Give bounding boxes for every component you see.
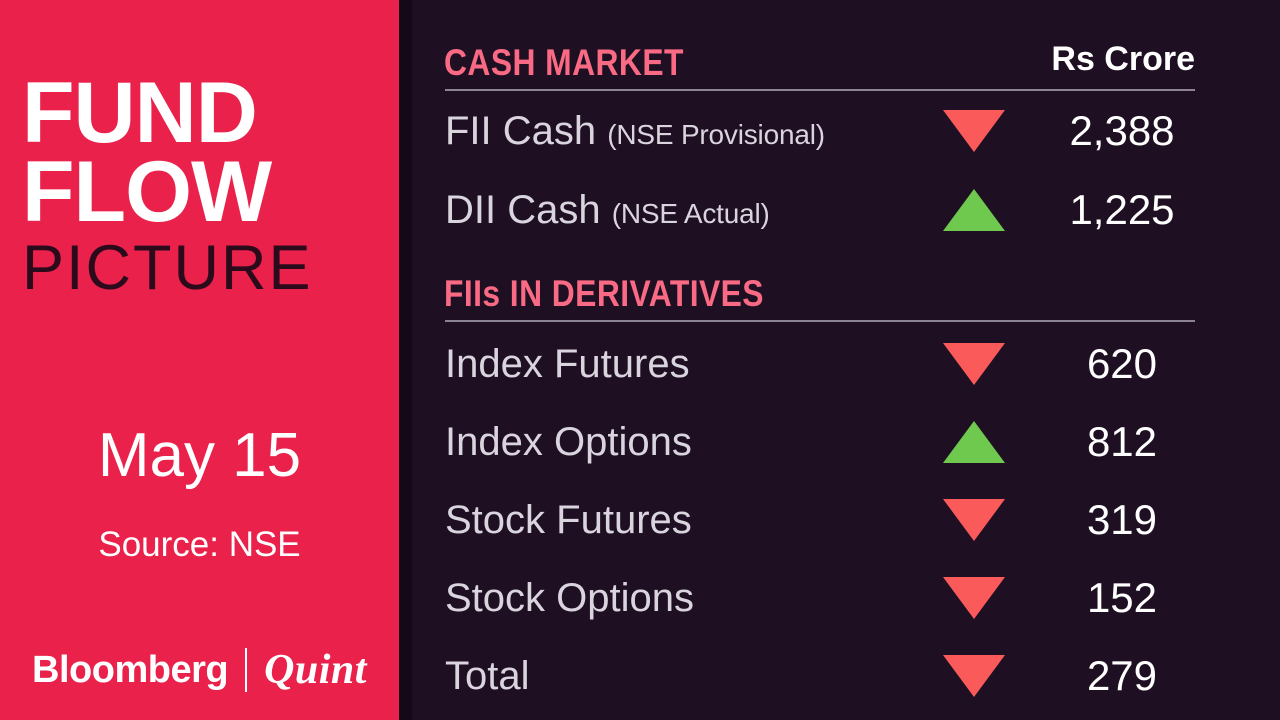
direction-indicator — [943, 421, 1005, 463]
date-label: May 15 — [0, 420, 399, 491]
row-label-stock-futures: Stock Futures — [445, 498, 692, 543]
row-label-main: FII Cash — [445, 109, 596, 153]
table-row: FII Cash (NSE Provisional) 2,388 — [412, 103, 1280, 159]
triangle-down-icon — [943, 577, 1005, 619]
brand-panel: FUND FLOW PICTURE May 15 Source: NSE Blo… — [0, 0, 399, 720]
row-label-index-options: Index Options — [445, 420, 692, 465]
triangle-down-icon — [943, 110, 1005, 152]
row-label-fii-cash: FII Cash (NSE Provisional) — [445, 109, 825, 154]
direction-indicator — [943, 499, 1005, 541]
row-value: 319 — [1012, 496, 1232, 544]
brand-line-fund: FUND — [22, 74, 382, 153]
table-row: Total 279 — [412, 648, 1280, 704]
triangle-up-icon — [943, 189, 1005, 231]
row-label-stock-options: Stock Options — [445, 576, 694, 621]
row-label-dii-cash: DII Cash (NSE Actual) — [445, 188, 770, 233]
row-value: 620 — [1012, 340, 1232, 388]
row-value: 279 — [1012, 652, 1232, 700]
divider-derivatives — [445, 320, 1195, 322]
section-heading-fiis-in-derivatives: FIIs IN DERIVATIVES — [444, 273, 764, 315]
publisher-logo: Bloomberg Quint — [0, 645, 399, 695]
direction-indicator — [943, 655, 1005, 697]
row-label-total: Total — [445, 654, 530, 699]
row-value: 812 — [1012, 418, 1232, 466]
row-label-sub: (NSE Actual) — [612, 198, 770, 229]
panel-gutter — [399, 0, 412, 720]
infographic-canvas: FUND FLOW PICTURE May 15 Source: NSE Blo… — [0, 0, 1280, 720]
triangle-up-icon — [943, 421, 1005, 463]
brand-line-picture: PICTURE — [22, 236, 382, 300]
row-label-index-futures: Index Futures — [445, 342, 690, 387]
triangle-down-icon — [943, 499, 1005, 541]
brand-title: FUND FLOW PICTURE — [22, 74, 382, 300]
logo-divider — [245, 648, 247, 692]
table-row: DII Cash (NSE Actual) 1,225 — [412, 182, 1280, 238]
unit-label: Rs Crore — [1051, 40, 1195, 79]
table-row: Index Options 812 — [412, 414, 1280, 470]
row-value: 152 — [1012, 574, 1232, 622]
row-label-main: DII Cash — [445, 188, 601, 232]
direction-indicator — [943, 577, 1005, 619]
section-heading-cash-market: CASH MARKET — [444, 42, 684, 84]
direction-indicator — [943, 189, 1005, 231]
row-label-sub: (NSE Provisional) — [607, 119, 825, 150]
triangle-down-icon — [943, 655, 1005, 697]
table-row: Stock Futures 319 — [412, 492, 1280, 548]
logo-bloomberg-text: Bloomberg — [32, 649, 228, 692]
direction-indicator — [943, 343, 1005, 385]
row-value: 2,388 — [1012, 107, 1232, 155]
data-panel: CASH MARKET Rs Crore FII Cash (NSE Provi… — [412, 0, 1280, 720]
logo-quint-text: Quint — [264, 646, 367, 694]
direction-indicator — [943, 110, 1005, 152]
source-label: Source: NSE — [0, 525, 399, 565]
row-value: 1,225 — [1012, 186, 1232, 234]
triangle-down-icon — [943, 343, 1005, 385]
divider-cash-market — [445, 89, 1195, 91]
table-row: Index Futures 620 — [412, 336, 1280, 392]
table-row: Stock Options 152 — [412, 570, 1280, 626]
brand-line-flow: FLOW — [22, 153, 382, 232]
